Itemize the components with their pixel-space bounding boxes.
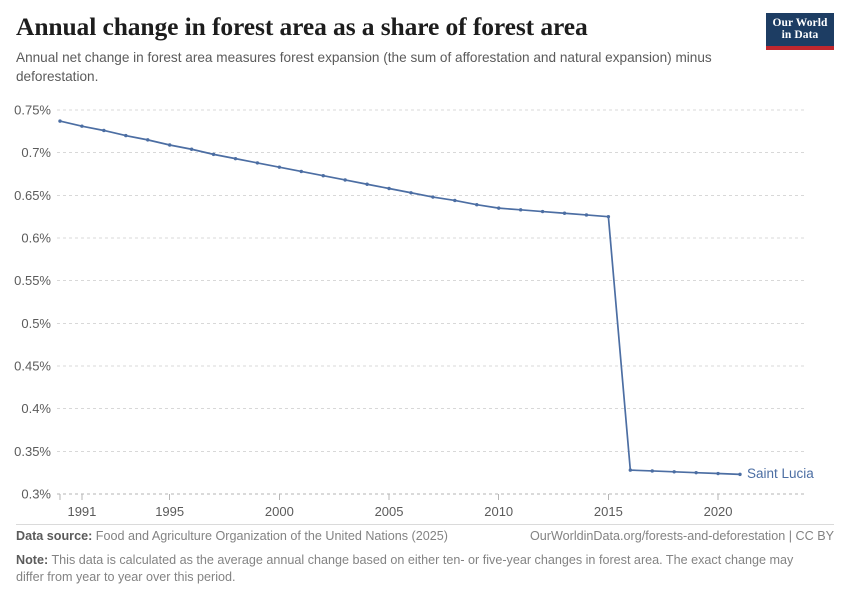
data-source-text: Food and Agriculture Organization of the… — [96, 529, 448, 543]
logo-line-2: in Data — [782, 30, 819, 42]
logo-line-1: Our World — [772, 18, 827, 30]
source-link[interactable]: OurWorldinData.org/forests-and-deforesta… — [530, 528, 834, 545]
series-end-label[interactable]: Saint Lucia — [747, 466, 814, 481]
data-source: Data source: Food and Agriculture Organi… — [16, 528, 448, 545]
series-data-point[interactable] — [256, 161, 259, 164]
series-group: Saint Lucia — [58, 119, 814, 481]
y-axis-tick-labels-group: 0.3%0.35%0.4%0.45%0.5%0.55%0.6%0.65%0.7%… — [14, 103, 51, 502]
series-data-point[interactable] — [651, 469, 654, 472]
x-axis-tick-labels-group: 1991199520002005201020152020 — [60, 494, 733, 519]
series-data-point[interactable] — [497, 206, 500, 209]
x-axis-tick-label: 2005 — [375, 504, 404, 519]
series-data-point[interactable] — [80, 125, 83, 128]
footer-note: Note: This data is calculated as the ave… — [16, 552, 806, 586]
line-chart[interactable]: 0.3%0.35%0.4%0.45%0.5%0.55%0.6%0.65%0.7%… — [0, 96, 850, 526]
note-text: This data is calculated as the average a… — [16, 553, 793, 584]
series-data-point[interactable] — [541, 210, 544, 213]
our-world-in-data-logo[interactable]: Our World in Data — [766, 13, 834, 50]
x-axis-tick-label: 2015 — [594, 504, 623, 519]
series-data-point[interactable] — [387, 187, 390, 190]
series-data-point[interactable] — [519, 208, 522, 211]
series-data-point[interactable] — [738, 473, 741, 476]
y-axis-tick-label: 0.35% — [14, 444, 51, 459]
series-data-point[interactable] — [607, 215, 610, 218]
chart-header: Annual change in forest area as a share … — [16, 12, 756, 86]
x-axis-tick-label: 1995 — [155, 504, 184, 519]
series-data-point[interactable] — [124, 134, 127, 137]
series-data-point[interactable] — [563, 212, 566, 215]
y-axis-tick-label: 0.45% — [14, 359, 51, 374]
series-data-point[interactable] — [278, 165, 281, 168]
footer-divider — [16, 524, 834, 525]
series-data-point[interactable] — [300, 170, 303, 173]
series-data-point[interactable] — [343, 178, 346, 181]
series-data-point[interactable] — [453, 199, 456, 202]
x-axis-tick-label: 1991 — [67, 504, 96, 519]
page-title: Annual change in forest area as a share … — [16, 12, 756, 42]
series-data-point[interactable] — [212, 153, 215, 156]
x-axis-tick-label: 2010 — [484, 504, 513, 519]
chart-page: Annual change in forest area as a share … — [0, 0, 850, 600]
series-data-point[interactable] — [475, 203, 478, 206]
y-axis-tick-label: 0.75% — [14, 103, 51, 118]
series-data-point[interactable] — [146, 138, 149, 141]
chart-footer: Data source: Food and Agriculture Organi… — [16, 528, 834, 586]
series-data-point[interactable] — [431, 195, 434, 198]
x-axis-tick-label: 2020 — [704, 504, 733, 519]
series-data-point[interactable] — [168, 143, 171, 146]
series-data-point[interactable] — [672, 470, 675, 473]
y-axis-tick-label: 0.4% — [21, 401, 51, 416]
series-line-saint-lucia[interactable] — [60, 121, 740, 474]
series-data-point[interactable] — [190, 148, 193, 151]
y-axis-tick-label: 0.7% — [21, 145, 51, 160]
chart-plot-area[interactable]: 0.3%0.35%0.4%0.45%0.5%0.55%0.6%0.65%0.7%… — [0, 96, 850, 526]
series-data-point[interactable] — [694, 471, 697, 474]
series-data-point[interactable] — [322, 174, 325, 177]
series-data-point[interactable] — [716, 472, 719, 475]
series-data-point[interactable] — [365, 183, 368, 186]
data-source-label: Data source: — [16, 529, 92, 543]
y-axis-tick-label: 0.3% — [21, 487, 51, 502]
y-axis-tick-label: 0.5% — [21, 316, 51, 331]
series-data-point[interactable] — [629, 468, 632, 471]
y-axis-tick-label: 0.55% — [14, 273, 51, 288]
series-data-point[interactable] — [234, 157, 237, 160]
chart-subtitle: Annual net change in forest area measure… — [16, 48, 742, 86]
x-axis-tick-label: 2000 — [265, 504, 294, 519]
note-label: Note: — [16, 553, 48, 567]
footer-source-row: Data source: Food and Agriculture Organi… — [16, 528, 834, 545]
series-data-point[interactable] — [102, 129, 105, 132]
gridlines-group — [57, 110, 806, 494]
y-axis-tick-label: 0.65% — [14, 188, 51, 203]
series-data-point[interactable] — [585, 213, 588, 216]
series-data-point[interactable] — [409, 191, 412, 194]
series-data-point[interactable] — [58, 119, 61, 122]
y-axis-tick-label: 0.6% — [21, 231, 51, 246]
